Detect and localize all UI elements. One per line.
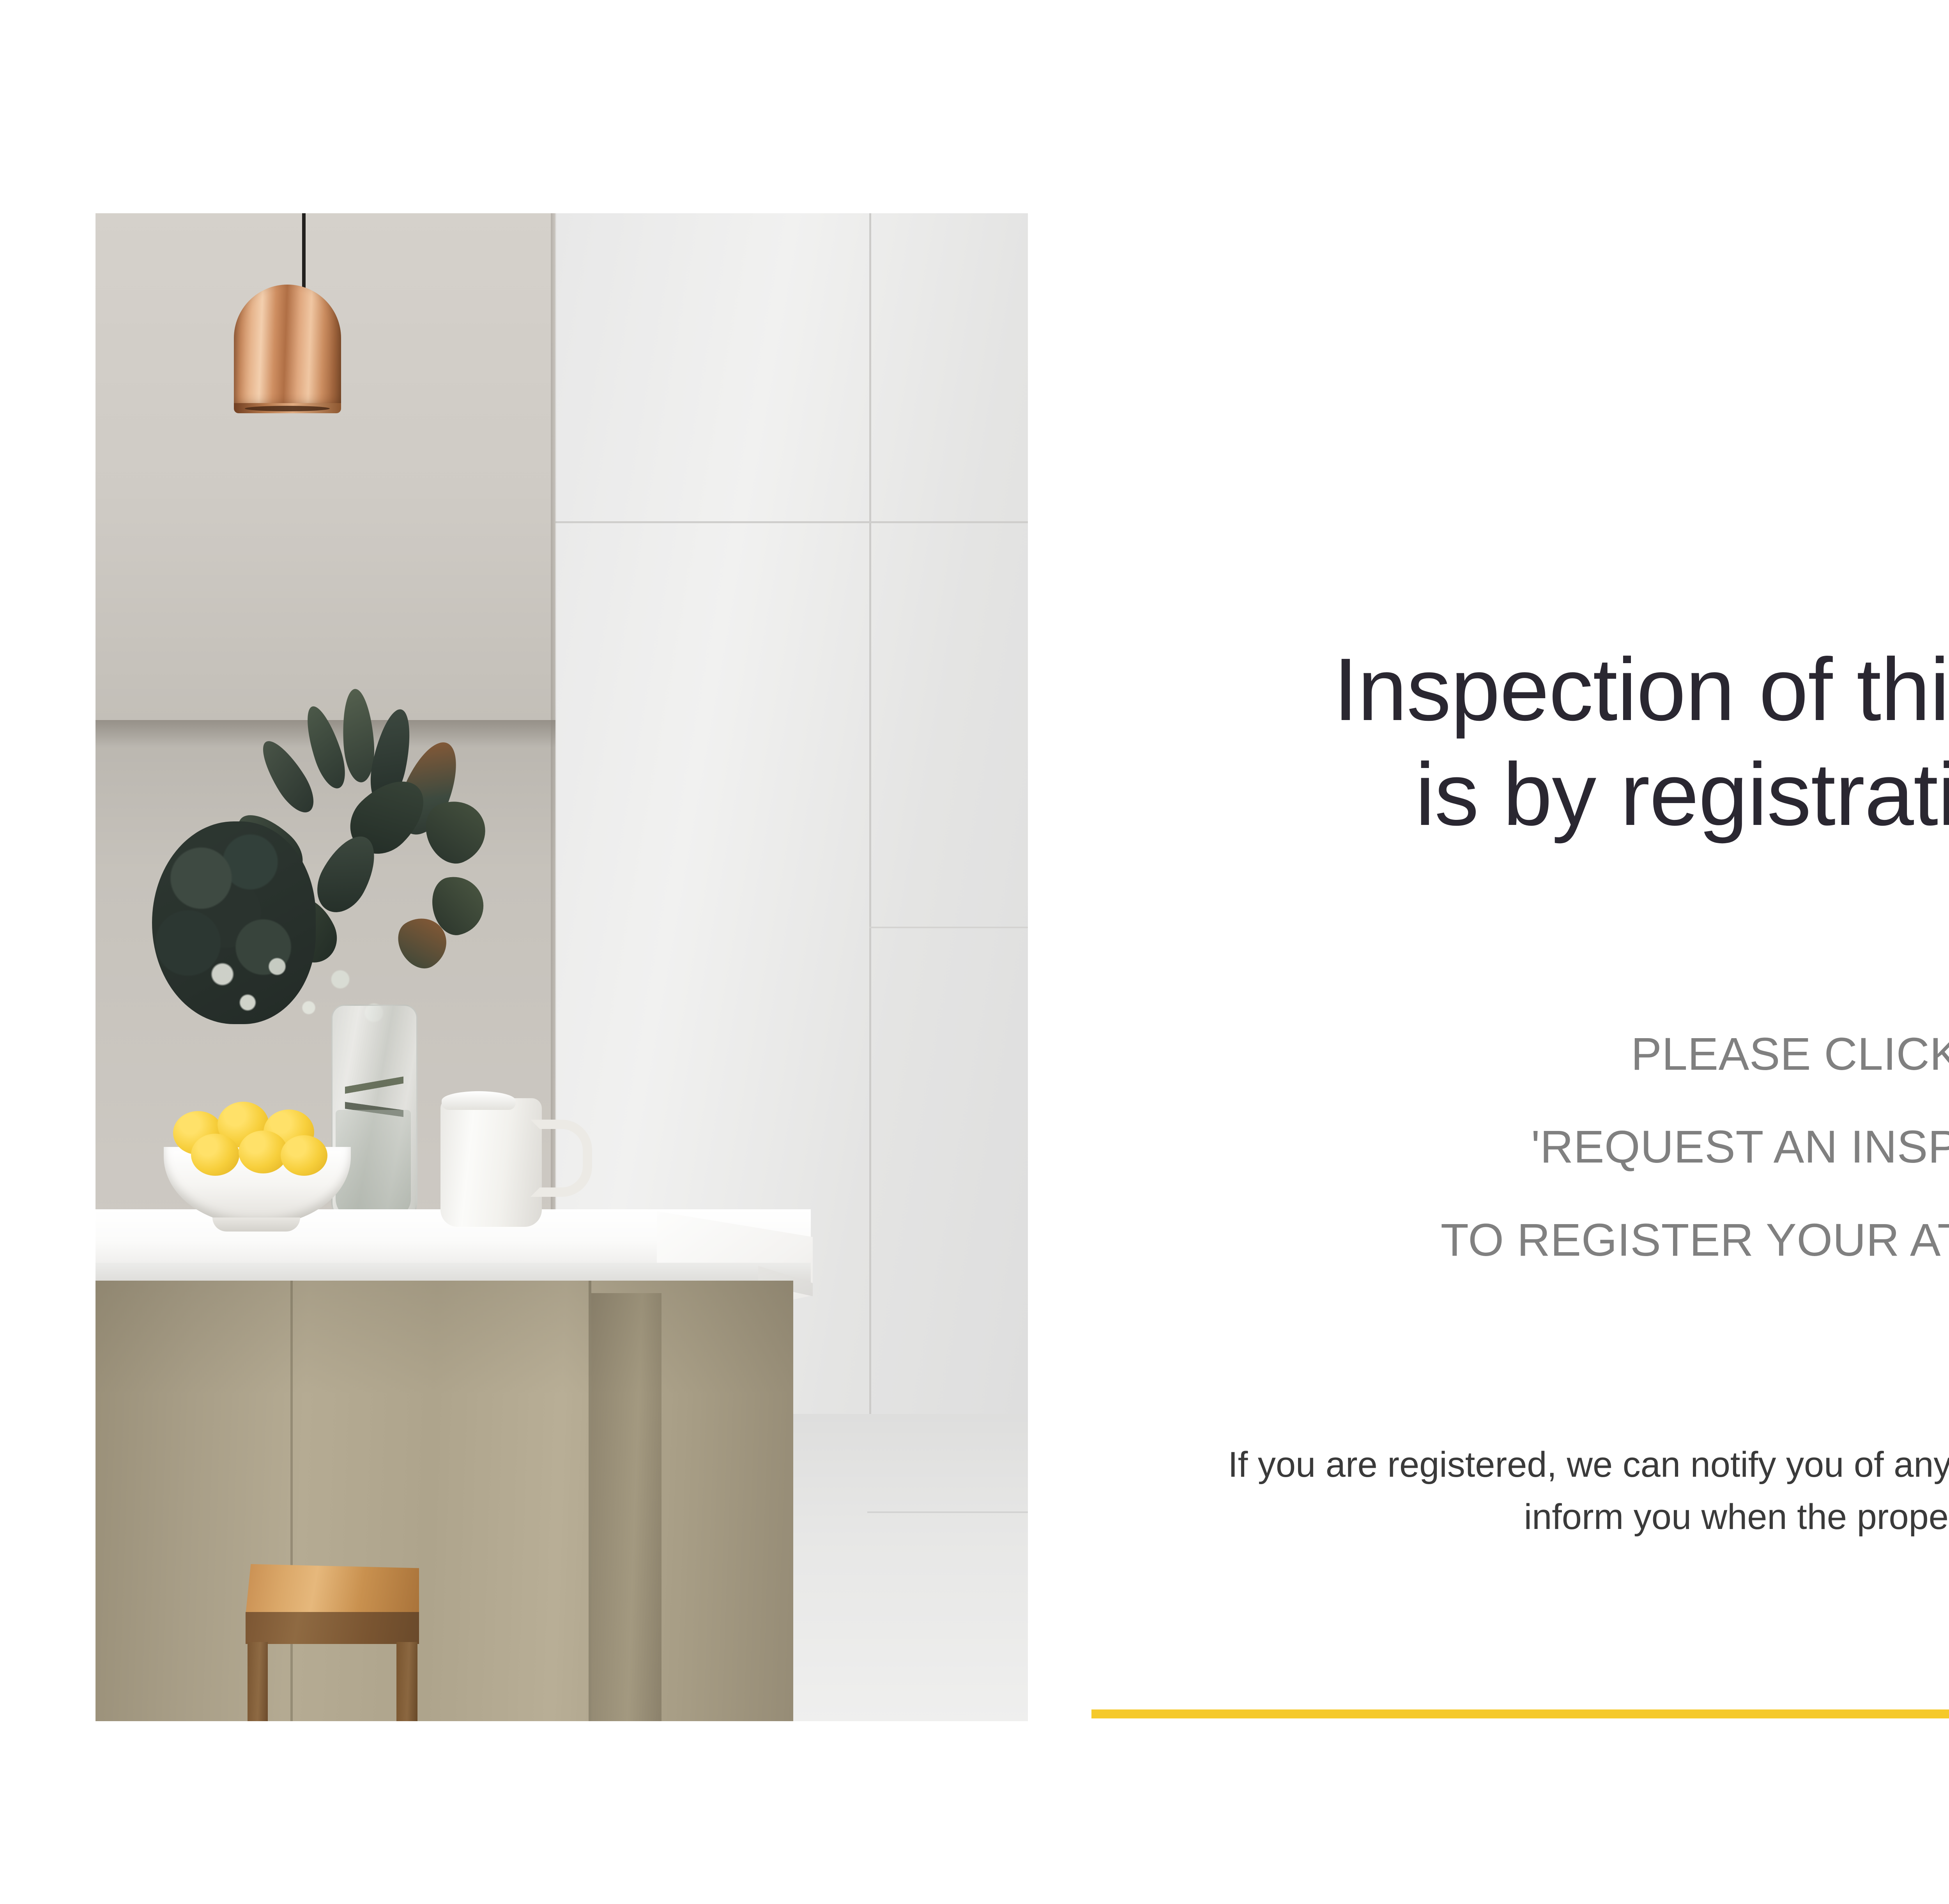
photo-wall-corner-edge [551,213,557,1223]
kitchen-interior-photo [96,213,1028,1721]
photo-bowl-foot [212,1217,300,1232]
photo-cabinet-seam-horizontal-2 [869,927,1028,928]
instruction-line-2: 'REQUEST AN INSPECTION' [1091,1101,1949,1193]
body-copy: If you are registered, we can notify you… [1091,1439,1949,1543]
inspection-notice-page: RayWhite® Inspection of this property is… [0,0,1949,1904]
photo-wall-upper [96,213,555,720]
photo-stool-apron [246,1612,419,1644]
photo-stool-leg-right [396,1642,417,1721]
photo-stool-seat [246,1564,419,1615]
instruction-line-3: TO REGISTER YOUR ATTENDANCE. [1091,1194,1949,1286]
photo-bench-edge [96,1263,811,1283]
photo-pendant-inner [245,406,330,411]
photo-floor-tile-line [867,1511,1028,1513]
photo-jug-handle [531,1120,592,1197]
photo-island-shadow [96,1281,793,1721]
photo-cabinet-seam-vertical [869,213,871,1414]
photo-pendant-cord [302,213,306,291]
photo-ceramic-jug [440,1098,542,1227]
page-title-line-1: Inspection of this property [1091,637,1949,742]
photo-copper-pendant-lamp [234,285,341,411]
body-copy-line-1: If you are registered, we can notify you… [1091,1439,1949,1491]
yellow-divider-bar [1091,1709,1949,1718]
instruction-line-1: PLEASE CLICK ON [1091,1008,1949,1101]
page-title-line-2: is by registration only. [1091,742,1949,847]
instruction-block: PLEASE CLICK ON 'REQUEST AN INSPECTION' … [1091,1008,1949,1286]
page-title: Inspection of this property is by regist… [1091,637,1949,847]
photo-stool-leg-left [248,1642,268,1721]
body-copy-line-2: inform you when the property is leased. [1091,1491,1949,1543]
photo-cabinet-seam-horizontal [555,521,1028,523]
photo-jug-lip [442,1091,516,1110]
